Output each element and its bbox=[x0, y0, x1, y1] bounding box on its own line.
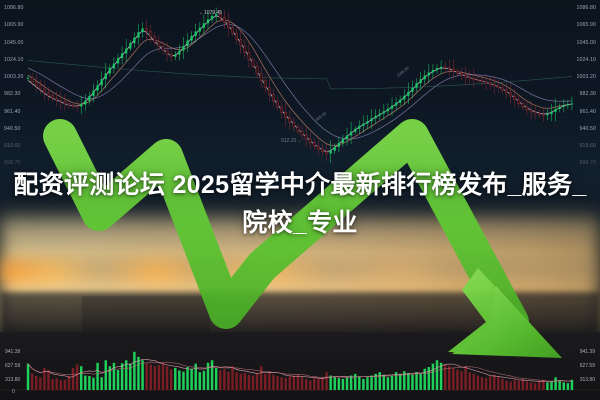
page-title: 配资评测论坛 2025留学中介最新排行榜发布_服务_院校_专业 bbox=[0, 166, 600, 242]
stock-chart-banner: 1086.80 1065.90 1045.00 1024.10 1003.20 … bbox=[0, 0, 600, 400]
